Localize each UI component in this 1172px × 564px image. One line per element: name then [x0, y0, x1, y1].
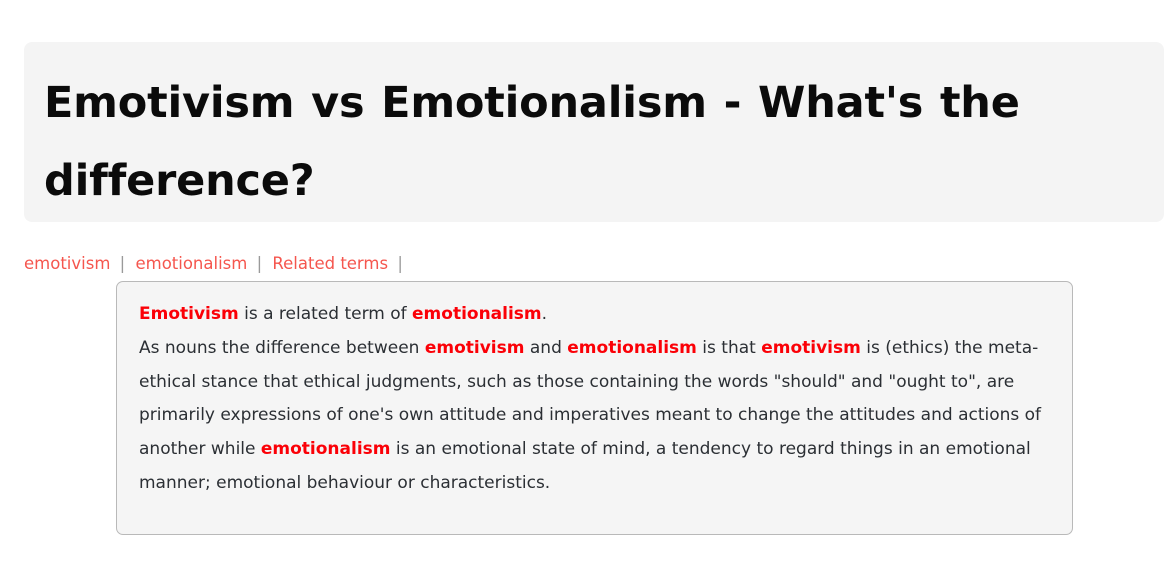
nav-link-emotionalism[interactable]: emotionalism	[135, 254, 247, 273]
definition-lead-line: Emotivism is a related term of emotional…	[139, 298, 1050, 332]
definition-text: Emotivism is a related term of emotional…	[139, 298, 1050, 501]
page-header-banner: Emotivism vs Emotionalism - What's the d…	[24, 42, 1164, 222]
breadcrumb: emotivism | emotionalism | Related terms…	[24, 253, 408, 275]
term-emotionalism: emotionalism	[261, 439, 391, 459]
term-emotivism: emotivism	[425, 338, 525, 358]
body-segment-2: and	[524, 338, 567, 358]
nav-link-related-terms[interactable]: Related terms	[272, 254, 388, 273]
nav-link-emotivism[interactable]: emotivism	[24, 254, 110, 273]
lead-middle-text: is a related term of	[239, 304, 412, 324]
nav-separator: |	[253, 254, 268, 273]
term-emotivism: Emotivism	[139, 304, 239, 324]
term-emotionalism: emotionalism	[412, 304, 542, 324]
term-emotivism: emotivism	[761, 338, 861, 358]
page-title: Emotivism vs Emotionalism - What's the d…	[44, 64, 1144, 220]
nav-separator: |	[116, 254, 131, 273]
lead-end-text: .	[542, 304, 547, 324]
nav-separator: |	[393, 254, 408, 273]
term-emotionalism: emotionalism	[567, 338, 697, 358]
body-segment-3: is that	[697, 338, 761, 358]
body-segment-1: As nouns the difference between	[139, 338, 425, 358]
definition-panel: Emotivism is a related term of emotional…	[116, 281, 1073, 535]
